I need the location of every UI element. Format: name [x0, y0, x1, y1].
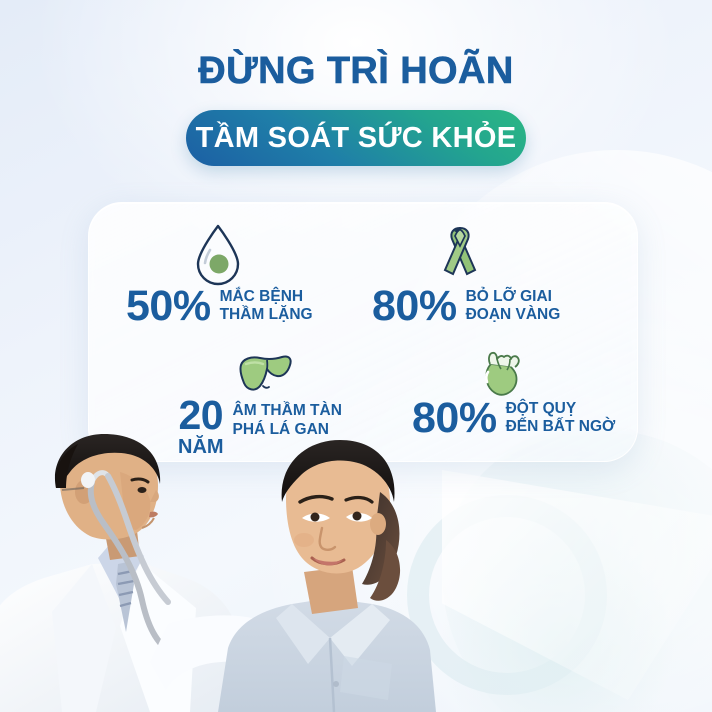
- page-title: ĐỪNG TRÌ HOÃN: [0, 50, 712, 93]
- stat-value-block: 80%: [372, 286, 457, 327]
- stat-label-line2: THẦM LẶNG: [220, 306, 313, 325]
- liver-icon: [234, 352, 294, 401]
- health-screening-button-label: TẦM SOÁT SỨC KHỎE: [196, 122, 517, 155]
- stat-label-line1: ÂM THẦM TÀN: [233, 402, 342, 421]
- stat-row: 80% BỎ LỠ GIAI ĐOẠN VÀNG: [372, 286, 560, 327]
- patient-figure: [218, 440, 436, 712]
- awareness-ribbon-icon: [437, 222, 483, 289]
- stat-item-silent-disease: 50% MẮC BỆNH THẦM LẶNG: [118, 222, 318, 332]
- stat-item-missed-golden-stage: 80% BỎ LỠ GIAI ĐOẠN VÀNG: [368, 222, 578, 332]
- stat-label: BỎ LỠ GIAI ĐOẠN VÀNG: [466, 288, 561, 326]
- stat-label-line1: MẮC BỆNH: [220, 288, 313, 307]
- health-screening-button[interactable]: TẦM SOÁT SỨC KHỎE: [186, 110, 526, 166]
- stat-value-block: 50%: [126, 286, 211, 327]
- stat-label-line2: ĐOẠN VÀNG: [466, 306, 561, 325]
- stat-value: 80%: [372, 286, 457, 327]
- stat-row: 50% MẮC BỆNH THẦM LẶNG: [126, 286, 313, 327]
- stat-label-line1: BỎ LỠ GIAI: [466, 288, 561, 307]
- doctor-examining-patient-photo: [0, 432, 560, 712]
- stat-label-line1: ĐỘT QUỴ: [506, 400, 616, 419]
- stat-label: MẮC BỆNH THẦM LẶNG: [220, 288, 313, 326]
- stat-value: 20: [178, 396, 223, 435]
- stat-value: 50%: [126, 286, 211, 327]
- banner-stage: ĐỪNG TRÌ HOÃN TẦM SOÁT SỨC KHỎE 50% MẮC …: [0, 0, 712, 712]
